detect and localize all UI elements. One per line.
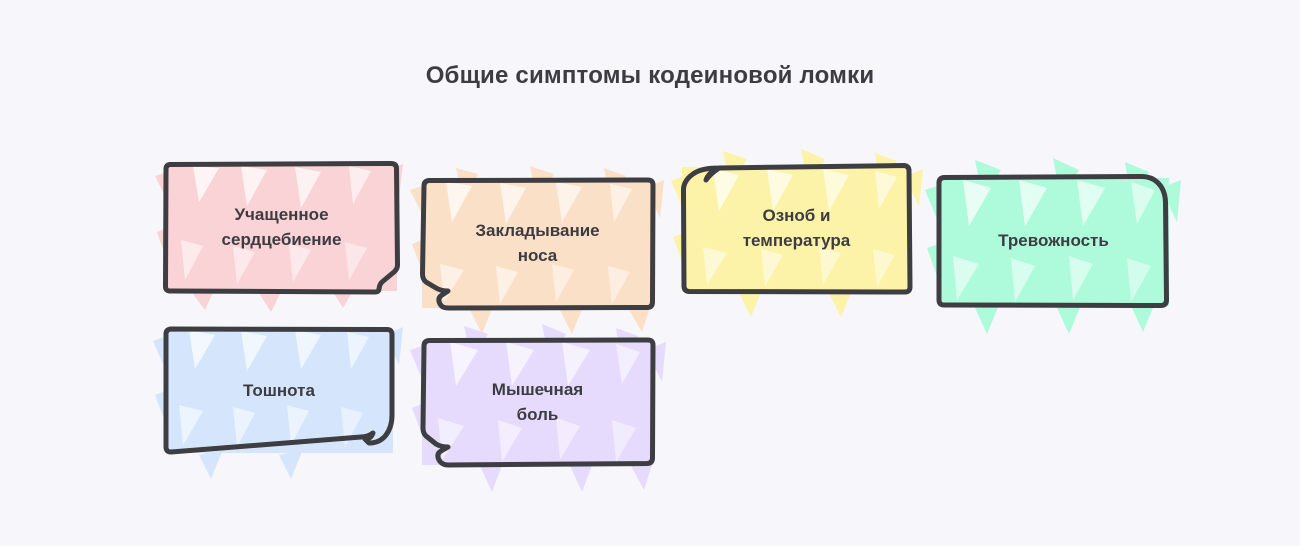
symptoms-board: Общие симптомы кодеиновой ломки (0, 0, 1300, 546)
symptom-card-nausea[interactable]: Тошнота (163, 327, 395, 455)
symptom-card-tachycardia[interactable]: Учащенное сердцебиение (163, 162, 400, 293)
symptom-card-nasal-congestion[interactable]: Закладывание носа (420, 178, 655, 310)
highlighter-fill (153, 327, 403, 479)
page-title: Общие симптомы кодеиновой ломки (0, 62, 1300, 90)
symptom-card-chills-fever[interactable]: Озноб и температура (679, 163, 914, 294)
symptom-card-anxiety[interactable]: Тревожность (935, 174, 1172, 308)
symptom-card-muscle-pain[interactable]: Мышечная боль (420, 338, 655, 467)
